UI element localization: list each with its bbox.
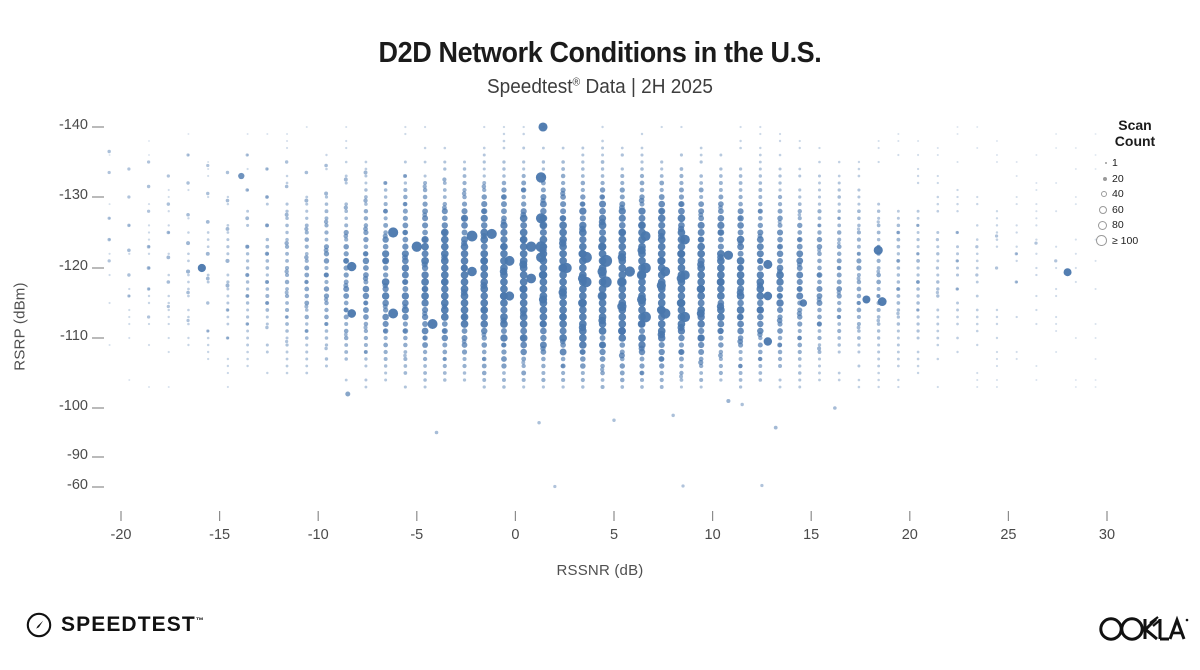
data-point [857, 315, 861, 319]
data-point [897, 140, 899, 142]
data-point [500, 313, 508, 321]
data-point [579, 236, 586, 243]
data-point [266, 168, 268, 170]
legend-item[interactable]: ≥ 100 [1085, 233, 1190, 249]
data-point [818, 188, 821, 191]
data-point [838, 188, 841, 191]
data-point [461, 292, 469, 300]
legend-item-label: 40 [1112, 188, 1124, 200]
data-point [797, 279, 803, 285]
data-point [421, 278, 429, 286]
data-point [581, 181, 586, 186]
data-point [579, 313, 587, 321]
data-point [402, 250, 409, 257]
data-point [1095, 337, 1097, 339]
data-point [520, 349, 527, 356]
data-point [285, 301, 289, 305]
data-point [738, 202, 743, 207]
data-point [718, 208, 724, 214]
data-point [976, 203, 978, 205]
data-point [1035, 379, 1037, 381]
data-point [699, 357, 704, 362]
data-point [560, 194, 566, 200]
data-point [877, 245, 881, 249]
data-point [838, 203, 841, 206]
data-point [897, 273, 900, 276]
data-point [246, 330, 249, 333]
data-point [857, 365, 860, 368]
data-point [246, 322, 249, 325]
data-point [541, 349, 547, 355]
data-point [659, 356, 664, 361]
data-point [503, 147, 506, 150]
data-point [344, 280, 349, 285]
data-point [561, 357, 566, 362]
data-point [817, 293, 823, 299]
data-point [737, 306, 745, 314]
data-point [1095, 358, 1097, 360]
data-point [207, 161, 209, 163]
legend-item[interactable]: 1 [1085, 155, 1190, 171]
data-point [757, 271, 764, 278]
data-point [581, 174, 585, 178]
data-point [542, 167, 545, 170]
data-point [641, 147, 644, 150]
data-point [148, 253, 150, 255]
data-point [797, 230, 802, 235]
data-point [739, 147, 742, 150]
data-point [265, 266, 269, 270]
data-point [324, 192, 328, 196]
data-point [245, 216, 249, 220]
data-point [737, 321, 744, 328]
data-point [857, 252, 861, 256]
data-point [619, 201, 625, 207]
data-point [678, 335, 684, 341]
data-point [640, 378, 644, 382]
data-point [305, 358, 308, 361]
data-point [620, 174, 624, 178]
data-point [759, 154, 762, 157]
data-point [559, 313, 567, 321]
data-point [207, 175, 209, 177]
data-point [521, 208, 527, 214]
data-point [678, 236, 686, 244]
data-point [897, 217, 900, 220]
data-point [877, 386, 879, 388]
data-point [698, 257, 705, 264]
data-point [364, 244, 369, 249]
data-point [441, 299, 449, 307]
data-point [601, 167, 604, 170]
data-point [737, 300, 744, 307]
data-point [798, 386, 801, 389]
data-point [423, 188, 427, 192]
data-point [1075, 379, 1077, 381]
data-point [719, 350, 723, 354]
data-point [540, 229, 547, 236]
data-point [365, 161, 368, 164]
data-point [246, 245, 249, 248]
data-point [858, 168, 861, 171]
data-point [325, 364, 328, 367]
data-point [423, 357, 427, 361]
data-point [206, 301, 209, 304]
data-point [540, 292, 548, 300]
data-point [344, 350, 348, 354]
data-point [659, 363, 664, 368]
data-point [580, 215, 586, 221]
data-point [976, 281, 979, 284]
data-point [996, 316, 998, 318]
data-point [757, 306, 764, 313]
data-point [345, 147, 347, 149]
data-point [857, 224, 861, 228]
data-point [818, 343, 821, 346]
data-point [480, 292, 488, 300]
data-point [345, 379, 348, 382]
data-point [206, 252, 210, 256]
data-point [698, 236, 704, 242]
y-axis-tick-label: -140 [0, 117, 88, 133]
data-point [638, 257, 646, 265]
data-point [383, 265, 389, 271]
data-point [500, 236, 507, 243]
legend-item[interactable]: 80 [1085, 217, 1190, 233]
data-point [363, 237, 368, 242]
data-point [976, 224, 979, 227]
data-point [678, 264, 686, 272]
data-point [403, 188, 407, 192]
data-point [838, 161, 841, 164]
data-point [382, 314, 389, 321]
data-point [559, 320, 567, 328]
data-point [621, 153, 624, 156]
data-point [837, 329, 841, 333]
data-point [207, 351, 209, 353]
data-point [778, 357, 782, 361]
data-point [226, 252, 229, 255]
data-point [679, 181, 683, 185]
data-point [541, 181, 546, 186]
data-point [837, 209, 841, 213]
data-point [522, 133, 525, 136]
data-point [817, 230, 821, 234]
data-point [936, 231, 939, 234]
data-point [324, 347, 327, 350]
data-point [344, 322, 348, 326]
data-point [266, 343, 269, 346]
data-point [697, 306, 705, 314]
data-point [526, 274, 536, 284]
data-point [305, 315, 309, 319]
data-point [108, 239, 110, 241]
data-point [957, 133, 959, 135]
data-point [599, 243, 607, 251]
data-point [678, 257, 686, 265]
data-point [540, 208, 546, 214]
data-point [996, 210, 998, 212]
data-point [956, 302, 959, 305]
data-point [740, 403, 743, 406]
data-point [207, 238, 210, 241]
data-point [501, 328, 507, 334]
data-point [500, 292, 508, 300]
data-point [522, 160, 525, 163]
data-point [601, 140, 604, 143]
data-point [382, 300, 389, 307]
data-point [581, 385, 584, 388]
data-point [1075, 337, 1077, 339]
data-point [541, 378, 545, 382]
data-point [422, 321, 428, 327]
data-point [500, 257, 508, 265]
data-point [601, 385, 605, 389]
data-point [305, 217, 308, 220]
data-point [719, 154, 722, 157]
data-point [798, 188, 801, 191]
data-point [463, 167, 466, 170]
data-point [127, 273, 130, 276]
data-point [402, 279, 408, 285]
data-point [580, 202, 585, 207]
data-point [599, 264, 607, 272]
data-point [148, 203, 150, 205]
data-point [833, 406, 837, 410]
data-point [638, 243, 646, 251]
data-point [857, 294, 861, 298]
data-point [639, 194, 644, 199]
data-point [382, 292, 389, 299]
data-point [265, 301, 269, 305]
data-point [364, 171, 368, 175]
data-point [678, 278, 686, 286]
data-point [404, 126, 406, 128]
data-point [618, 285, 626, 293]
data-point [482, 378, 486, 382]
data-point [816, 286, 822, 292]
data-point [1016, 351, 1018, 353]
data-point [461, 257, 469, 265]
data-point [818, 364, 821, 367]
data-point [956, 259, 959, 262]
data-point [424, 161, 427, 164]
data-point [520, 257, 528, 265]
data-point [1016, 316, 1018, 318]
data-point [107, 150, 110, 153]
data-point [286, 175, 289, 178]
data-point [862, 296, 870, 304]
data-point [857, 227, 860, 230]
data-point [698, 349, 704, 355]
data-point [424, 174, 427, 177]
data-point [441, 306, 449, 314]
data-point [718, 194, 723, 199]
data-point [601, 126, 603, 128]
data-point [600, 181, 604, 185]
data-point [560, 342, 566, 348]
data-point [897, 245, 901, 249]
data-point [877, 301, 881, 305]
data-point [758, 371, 762, 375]
data-point [383, 286, 389, 292]
data-point [877, 343, 880, 346]
data-point [1075, 196, 1077, 198]
data-point [324, 266, 328, 270]
data-point [658, 320, 666, 328]
data-point [109, 203, 111, 205]
data-point [638, 250, 646, 258]
data-point [857, 326, 861, 330]
data-point [699, 174, 703, 178]
data-point [679, 357, 684, 362]
ookla-logo [1098, 614, 1190, 644]
data-point [799, 147, 801, 149]
data-point [442, 350, 447, 355]
data-point [658, 208, 665, 215]
data-point [679, 342, 684, 347]
legend: Scan Count 120406080≥ 100 [1085, 118, 1190, 248]
data-point [207, 337, 210, 340]
data-point [559, 278, 567, 286]
data-point [344, 223, 348, 227]
data-point [128, 309, 130, 311]
y-axis-tick-label: -110 [0, 328, 88, 344]
data-point [778, 174, 781, 177]
data-point [579, 243, 587, 251]
data-point [817, 308, 822, 313]
data-point [441, 243, 449, 251]
data-point [501, 194, 507, 200]
data-point [897, 301, 901, 305]
data-point [443, 364, 447, 368]
data-point [520, 271, 528, 279]
data-point [559, 264, 567, 272]
data-point [976, 147, 978, 149]
data-point [500, 250, 508, 258]
data-point [148, 140, 150, 142]
data-point [917, 231, 920, 234]
data-point [1055, 316, 1057, 318]
data-point [481, 215, 488, 222]
data-point [285, 217, 289, 221]
data-point [758, 350, 763, 355]
data-point [168, 224, 170, 226]
data-point [148, 224, 150, 226]
data-point [779, 133, 781, 135]
data-point [996, 379, 998, 381]
data-point [421, 257, 429, 265]
legend-marker-icon [1085, 162, 1107, 164]
data-point [956, 288, 959, 291]
data-point [897, 224, 901, 228]
data-point [480, 278, 488, 286]
data-point [345, 161, 348, 164]
data-point [501, 215, 507, 221]
data-point [579, 222, 586, 229]
data-point [916, 322, 919, 325]
data-point [837, 252, 841, 256]
data-point [916, 273, 919, 276]
data-point [520, 285, 528, 293]
data-point [797, 300, 802, 305]
data-point [640, 160, 643, 163]
data-point [976, 267, 979, 270]
data-point [759, 133, 761, 135]
data-point [324, 251, 329, 256]
data-point [639, 349, 645, 355]
data-point [620, 350, 625, 355]
data-point [108, 302, 110, 304]
data-point [167, 295, 170, 298]
data-point [917, 217, 920, 220]
data-point [580, 349, 586, 355]
data-point [246, 168, 248, 170]
data-point [187, 337, 189, 339]
data-point [364, 379, 367, 382]
data-point [719, 357, 723, 361]
legend-item[interactable]: 20 [1085, 171, 1190, 187]
data-point [148, 386, 150, 388]
data-point [108, 259, 111, 262]
data-point [286, 133, 288, 135]
data-point [1034, 242, 1037, 245]
data-point [778, 195, 782, 199]
data-point [1055, 210, 1057, 212]
data-point [897, 280, 901, 284]
data-point [227, 365, 229, 367]
data-point [877, 217, 880, 220]
data-point [344, 314, 349, 319]
legend-item[interactable]: 60 [1085, 202, 1190, 218]
data-point [717, 257, 725, 265]
data-point [384, 188, 388, 192]
data-point [579, 229, 587, 237]
data-point [483, 167, 486, 170]
data-point [777, 293, 783, 299]
data-point [500, 271, 508, 279]
data-point [266, 224, 269, 227]
data-point [756, 292, 764, 300]
data-point [640, 174, 644, 178]
data-point [737, 236, 745, 244]
data-point [541, 357, 546, 362]
data-point [542, 126, 544, 128]
data-point [618, 299, 626, 307]
data-point [403, 195, 408, 200]
data-point [442, 222, 448, 228]
data-point [916, 294, 919, 297]
data-point [422, 201, 427, 206]
data-point [461, 285, 469, 293]
data-point [561, 187, 566, 192]
data-point [363, 301, 368, 306]
data-point [344, 329, 349, 334]
data-point [168, 196, 170, 198]
data-point [619, 222, 626, 229]
data-point [738, 335, 744, 341]
data-point [917, 358, 920, 361]
legend-item[interactable]: 40 [1085, 186, 1190, 202]
data-point [502, 174, 506, 178]
data-point [522, 174, 526, 178]
data-point [917, 365, 920, 368]
data-point [661, 126, 663, 128]
data-point [877, 161, 879, 163]
data-point [422, 286, 429, 293]
data-point [206, 164, 209, 167]
data-point [857, 280, 861, 284]
